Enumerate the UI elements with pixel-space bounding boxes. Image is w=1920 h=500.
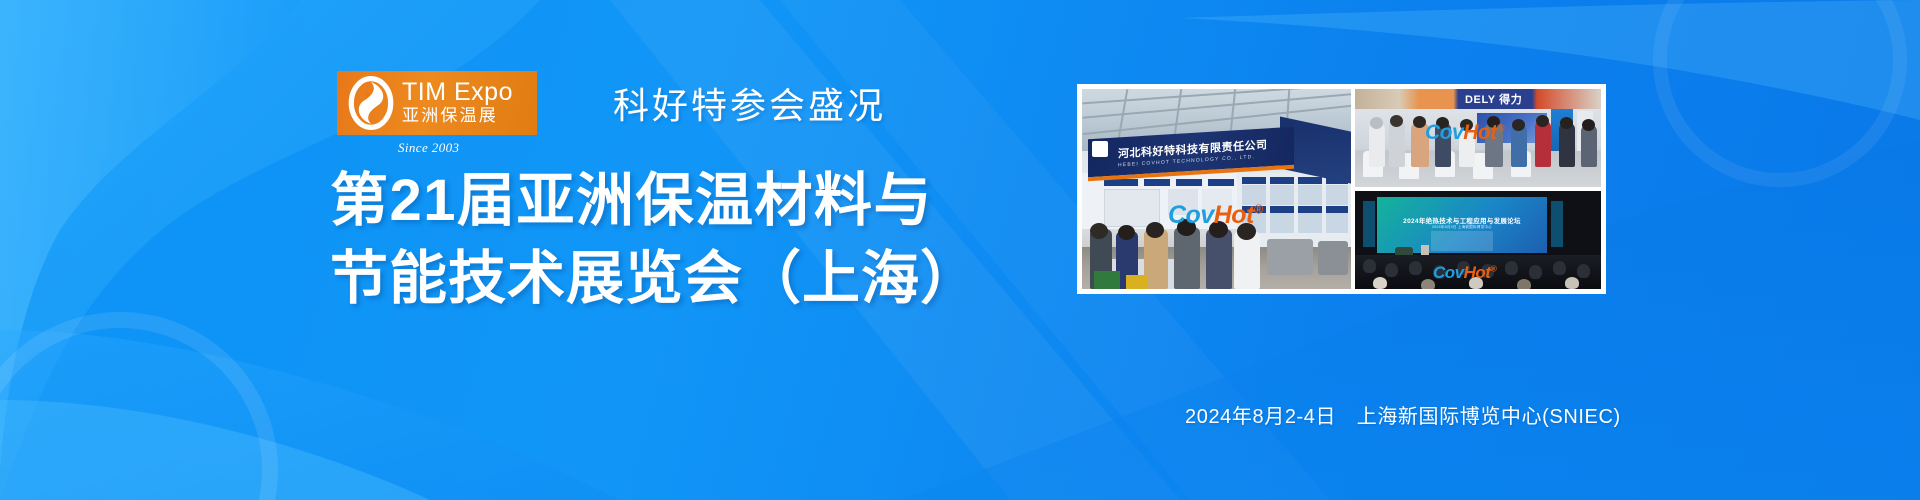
exhibition-hall-crowd-photo: DELY 得力 <box>1355 89 1601 187</box>
tim-expo-fish-mark <box>342 74 400 132</box>
forum-screen-title: 2024年绝热技术与工程应用与发展论坛 <box>1377 215 1547 225</box>
exhibition-booth-photo: 河北科好特科技有限责任公司 HEBEI COVHOT TECHNOLOGY CO… <box>1082 89 1351 289</box>
tim-expo-logo: TIM Expo 亚洲保温展 <box>337 71 537 135</box>
date-venue-text: 2024年8月2-4日 上海新国际博览中心(SNIEC) <box>1185 400 1621 429</box>
logo-title-cn: 亚洲保温展 <box>402 105 513 126</box>
title-line-1: 第21届亚洲保温材料与 <box>330 162 979 240</box>
photo-collage: 河北科好特科技有限责任公司 HEBEI COVHOT TECHNOLOGY CO… <box>1077 84 1606 294</box>
banner-subtitle: 科好特参会盛况 <box>613 77 886 129</box>
logo-title: TIM Expo <box>402 80 513 105</box>
page-title: 第21届亚洲保温材料与 节能技术展览会（上海） <box>330 162 979 318</box>
title-line-2: 节能技术展览会（上海） <box>330 240 979 318</box>
event-banner: TIM Expo 亚洲保温展 Since 2003 科好特参会盛况 第21届亚洲… <box>0 0 1920 500</box>
forum-screen-subtitle: 2024年8月3日 上海新国际博览中心 <box>1377 225 1547 230</box>
technology-forum-photo: 2024年绝热技术与工程应用与发展论坛 2024年8月3日 上海新国际博览中心 <box>1355 191 1601 289</box>
logo-since-text: Since 2003 <box>398 140 459 156</box>
hall-booth-brand: DELY 得力 <box>1465 91 1522 107</box>
